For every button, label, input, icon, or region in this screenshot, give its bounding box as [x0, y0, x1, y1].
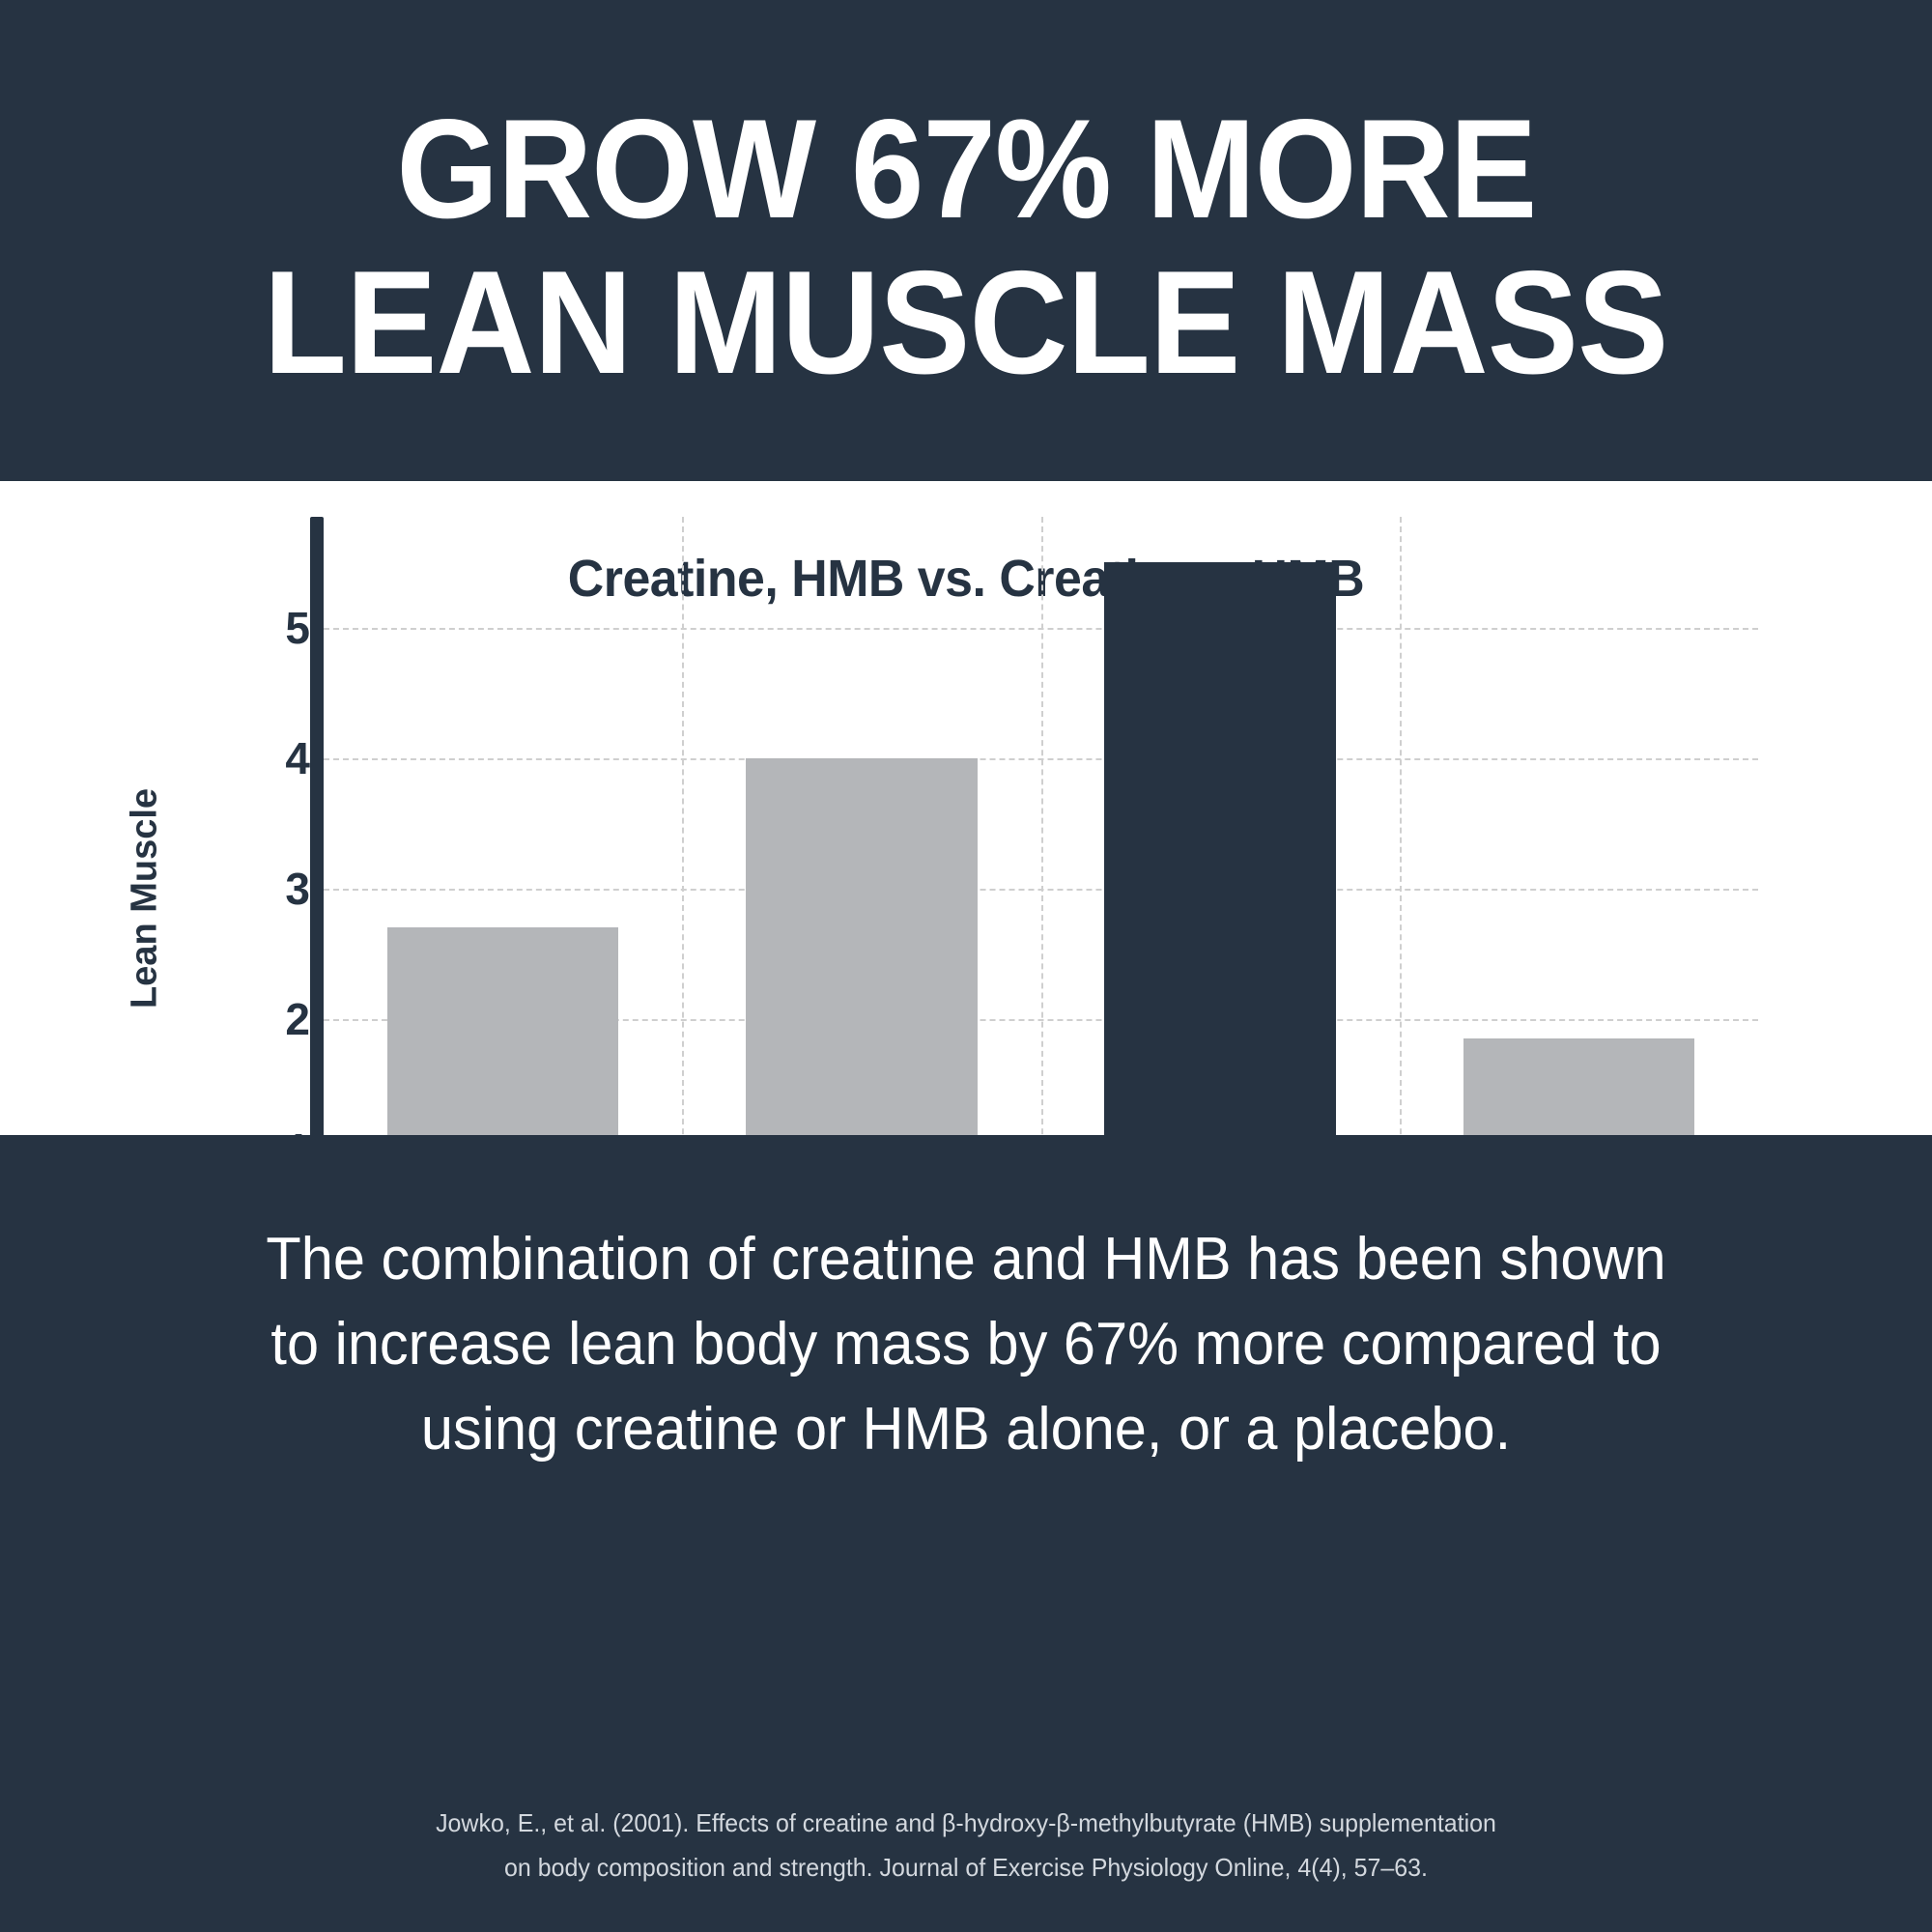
y-axis-tick-label: 5: [242, 602, 310, 654]
citation-line-2: on body composition and strength. Journa…: [178, 1846, 1754, 1890]
header-banner: GROW 67% MORE LEAN MUSCLE MASS: [0, 0, 1932, 481]
caption-line-3: using creatine or HMB alone, or a placeb…: [131, 1387, 1801, 1472]
y-axis-tick-label: 3: [242, 863, 310, 915]
y-axis-title: Lean Muscle: [125, 788, 166, 1009]
caption-line-2: to increase lean body mass by 67% more c…: [131, 1302, 1801, 1387]
infographic-page: GROW 67% MORE LEAN MUSCLE MASS Creatine,…: [0, 0, 1932, 1932]
headline-line-1: GROW 67% MORE: [396, 99, 1536, 238]
citation-text: Jowko, E., et al. (2001). Effects of cre…: [178, 1802, 1754, 1889]
y-axis-tick-label: 2: [242, 993, 310, 1045]
chart-panel: Creatine, HMB vs. Creatine + HMB Lean Mu…: [0, 481, 1932, 1135]
caption-line-1: The combination of creatine and HMB has …: [131, 1217, 1801, 1302]
citation-line-1: Jowko, E., et al. (2001). Effects of cre…: [178, 1802, 1754, 1846]
caption-text: The combination of creatine and HMB has …: [131, 1217, 1801, 1472]
footer-banner: The combination of creatine and HMB has …: [0, 1135, 1932, 1932]
y-axis-tick-label: 4: [242, 732, 310, 784]
headline-line-2: LEAN MUSCLE MASS: [264, 251, 1668, 395]
